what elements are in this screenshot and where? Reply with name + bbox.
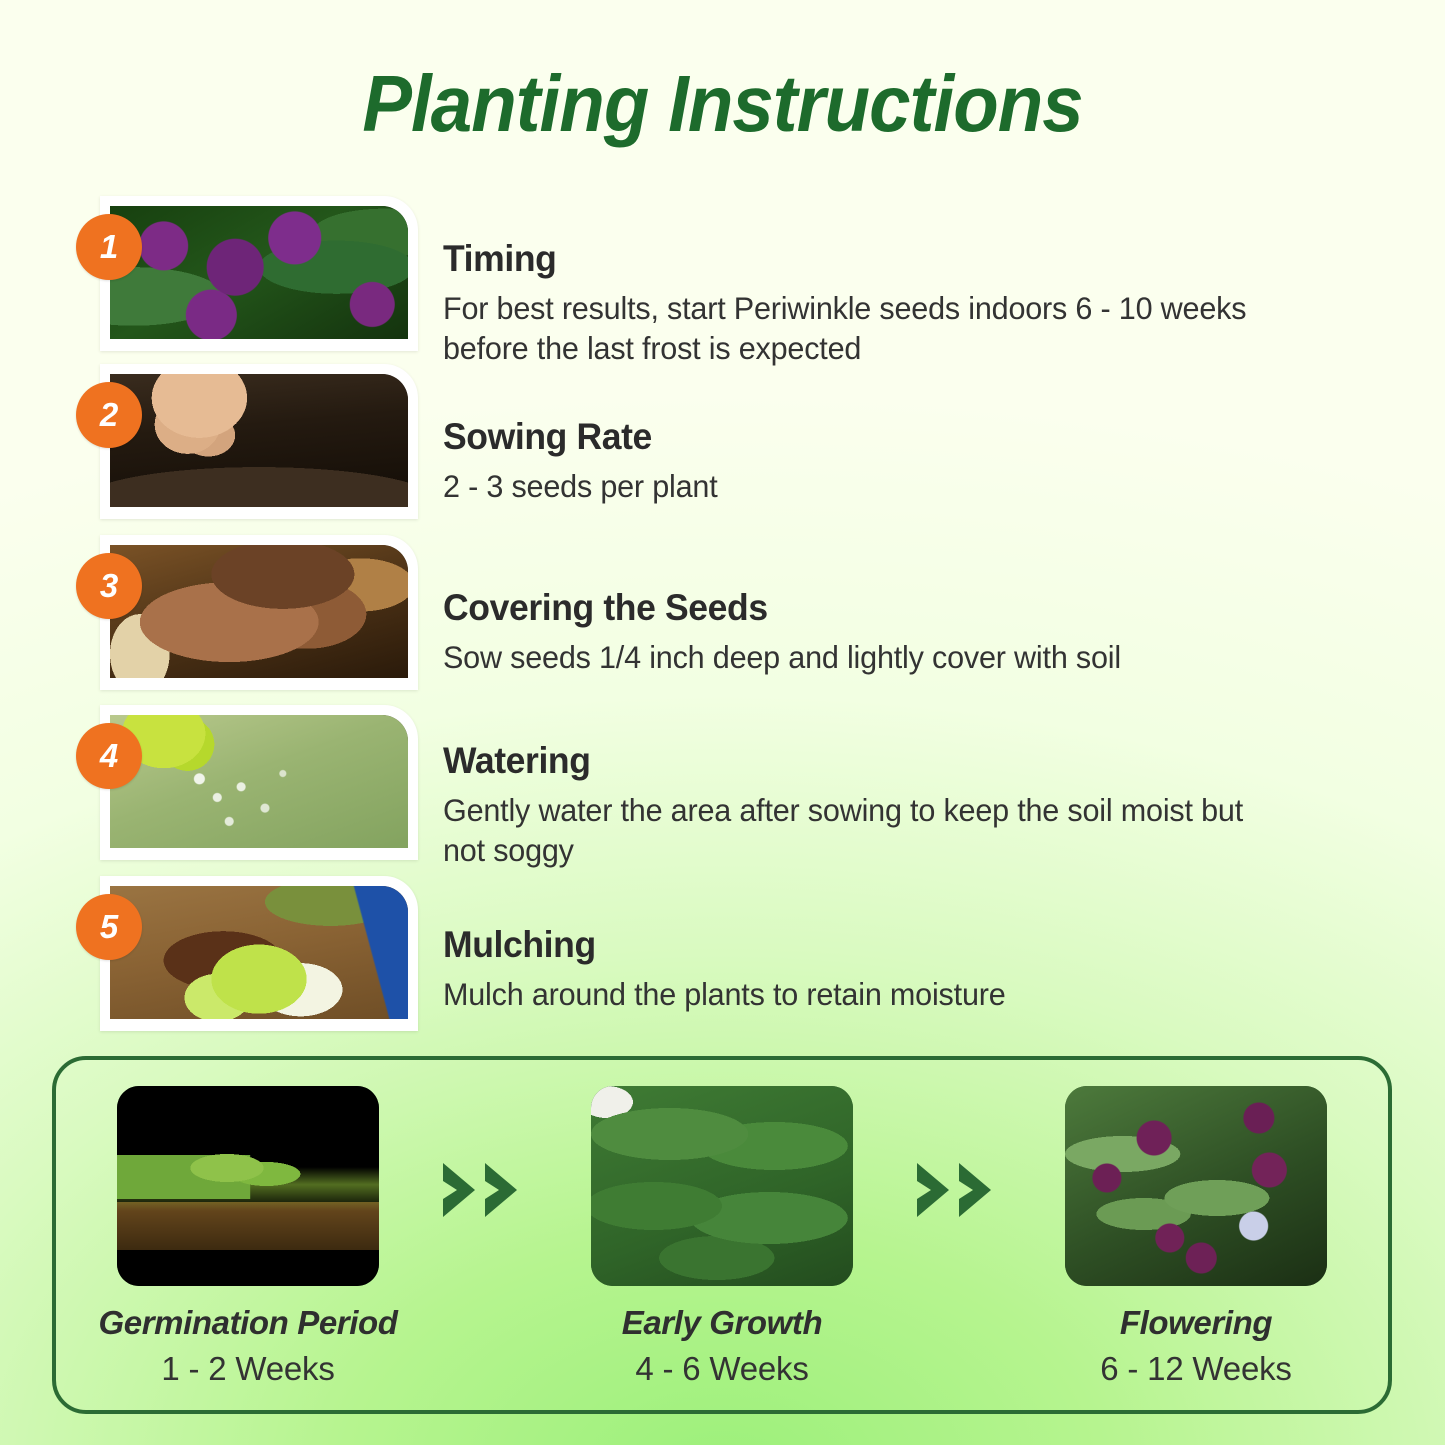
step-title-1: Timing [443, 238, 1339, 280]
step-text-3: Covering the Seeds Sow seeds 1/4 inch de… [421, 535, 1376, 678]
step-title-5: Mulching [443, 924, 1339, 966]
step-item-4: 4 Watering Gently water the area after s… [76, 705, 1376, 870]
timeline-stage-germination: Germination Period 1 - 2 Weeks [98, 1086, 398, 1388]
timeline-stage-flowering: Flowering 6 - 12 Weeks [1046, 1086, 1346, 1388]
purple-blooms-photo [1065, 1086, 1327, 1286]
step-text-2: Sowing Rate 2 - 3 seeds per plant [421, 364, 1376, 507]
step-description-2: 2 - 3 seeds per plant [443, 467, 1258, 507]
step-number-badge-5: 5 [76, 894, 142, 960]
step-number-badge-1: 1 [76, 214, 142, 280]
step-description-5: Mulch around the plants to retain moistu… [443, 975, 1258, 1015]
photo-frame-4 [100, 705, 418, 860]
step-item-5: 5 Mulching Mulch around the plants to re… [76, 876, 1376, 1031]
timeline-stage-early-growth: Early Growth 4 - 6 Weeks [572, 1086, 872, 1388]
step-description-3: Sow seeds 1/4 inch deep and lightly cove… [443, 638, 1258, 678]
photo-frame-5 [100, 876, 418, 1031]
step-title-4: Watering [443, 740, 1339, 782]
step-thumbnail-5: 5 [76, 876, 421, 1031]
step-number-badge-2: 2 [76, 382, 142, 448]
growth-timeline-panel: Germination Period 1 - 2 Weeks Early Gro… [52, 1056, 1392, 1414]
step-thumbnail-3: 3 [76, 535, 421, 690]
step-description-4: Gently water the area after sowing to ke… [443, 791, 1258, 870]
step-number-badge-3: 3 [76, 553, 142, 619]
page-title: Planting Instructions [51, 58, 1395, 150]
step-title-2: Sowing Rate [443, 416, 1339, 458]
timeline-stage-label-3: Flowering [1046, 1304, 1346, 1342]
step-thumbnail-1: 1 [76, 196, 421, 351]
step-text-5: Mulching Mulch around the plants to reta… [421, 876, 1376, 1015]
planting-instructions-poster: Planting Instructions 1 Timing For best … [0, 0, 1445, 1445]
hand-sowing-seeds-in-soil-photo [110, 374, 408, 507]
purple-periwinkle-flowers-photo [110, 206, 408, 339]
timeline-stage-label-2: Early Growth [572, 1304, 872, 1342]
step-text-1: Timing For best results, start Periwinkl… [421, 196, 1376, 368]
step-text-4: Watering Gently water the area after sow… [421, 705, 1376, 870]
hands-covering-seeds-with-soil-photo [110, 545, 408, 678]
step-item-2: 2 Sowing Rate 2 - 3 seeds per plant [76, 364, 1376, 519]
step-item-1: 1 Timing For best results, start Periwin… [76, 196, 1376, 368]
green-foliage-photo [591, 1086, 853, 1286]
gloved-hands-spreading-mulch-photo [110, 886, 408, 1019]
step-number-badge-4: 4 [76, 723, 142, 789]
double-chevron-right-icon-2 [904, 1090, 1014, 1290]
double-chevron-right-icon [430, 1090, 540, 1290]
photo-frame-3 [100, 535, 418, 690]
timeline-stage-label-1: Germination Period [98, 1304, 398, 1342]
watering-can-sprinkling-water-photo [110, 715, 408, 848]
photo-frame-1 [100, 196, 418, 351]
seedling-sprouting-photo [117, 1086, 379, 1286]
photo-frame-2 [100, 364, 418, 519]
timeline-stage-value-1: 1 - 2 Weeks [98, 1350, 398, 1388]
step-description-1: For best results, start Periwinkle seeds… [443, 289, 1258, 368]
step-thumbnail-4: 4 [76, 705, 421, 860]
step-item-3: 3 Covering the Seeds Sow seeds 1/4 inch … [76, 535, 1376, 690]
step-title-3: Covering the Seeds [443, 587, 1339, 629]
timeline-stage-value-3: 6 - 12 Weeks [1046, 1350, 1346, 1388]
step-thumbnail-2: 2 [76, 364, 421, 519]
timeline-stage-value-2: 4 - 6 Weeks [572, 1350, 872, 1388]
